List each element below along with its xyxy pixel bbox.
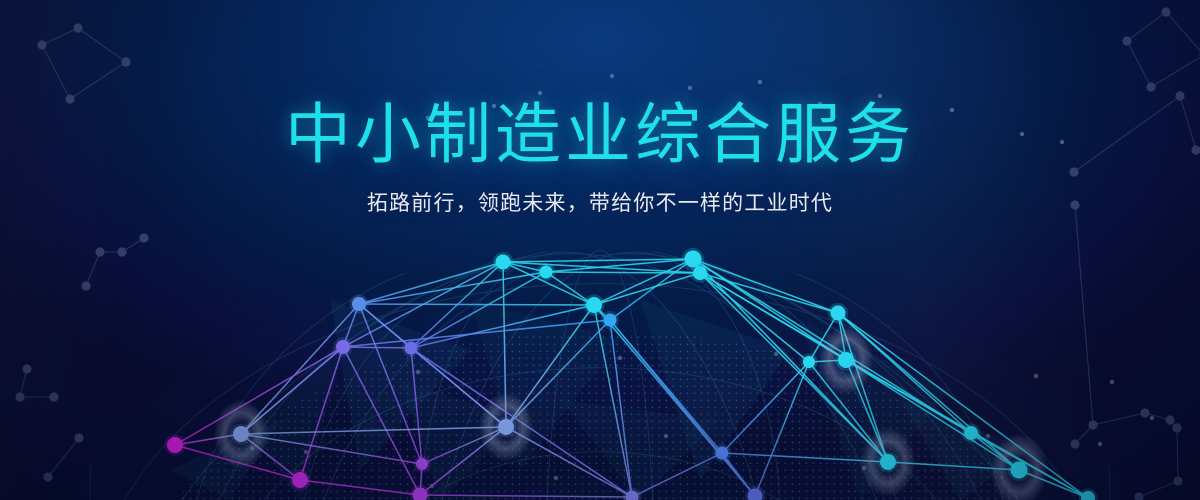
network-edge — [359, 304, 594, 305]
network-node — [964, 426, 978, 440]
network-edge — [343, 347, 411, 348]
network-node — [336, 340, 350, 354]
network-node — [416, 458, 428, 470]
network-node — [405, 342, 418, 355]
page-subtitle: 拓路前行，领跑未来，带给你不一样的工业时代 — [0, 170, 1200, 217]
hero-text-block: 中小制造业综合服务 拓路前行，领跑未来，带给你不一样的工业时代 — [0, 0, 1200, 217]
network-node — [498, 419, 514, 435]
network-node — [831, 306, 846, 321]
network-node — [586, 297, 602, 313]
network-node — [540, 266, 553, 279]
network-node — [880, 454, 896, 470]
network-node — [803, 356, 815, 368]
network-edge — [546, 272, 700, 273]
network-node — [1011, 462, 1028, 479]
network-node — [233, 426, 249, 442]
network-node — [838, 352, 854, 368]
network-node — [716, 447, 729, 460]
network-node — [604, 314, 617, 327]
network-node — [292, 472, 308, 488]
network-node — [167, 437, 183, 453]
page-title: 中小制造业综合服务 — [0, 0, 1200, 170]
hero-banner: 中小制造业综合服务 拓路前行，领跑未来，带给你不一样的工业时代 — [0, 0, 1200, 500]
network-node — [496, 255, 511, 270]
network-node — [352, 297, 366, 311]
network-node — [693, 266, 707, 280]
